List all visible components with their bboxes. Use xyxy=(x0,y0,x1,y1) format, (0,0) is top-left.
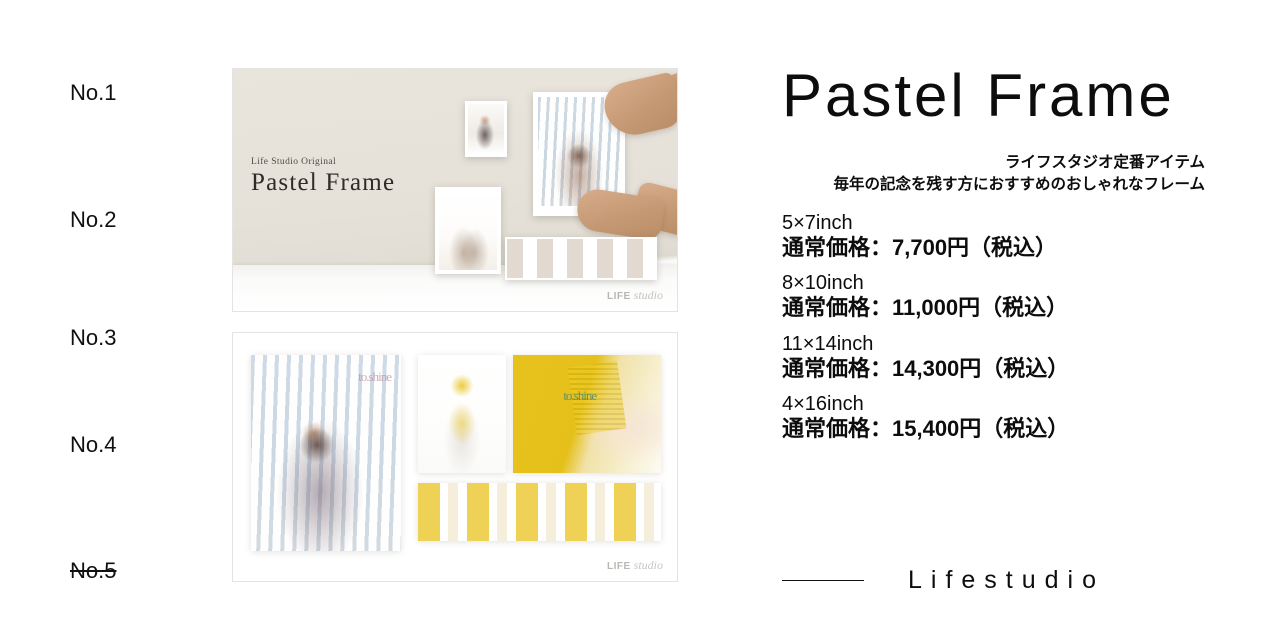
card-kicker: Life Studio Original xyxy=(251,157,395,167)
brand-divider xyxy=(782,580,864,582)
index-item-no2[interactable]: No.2 xyxy=(70,207,116,233)
framed-album-standing xyxy=(435,187,501,274)
card-product-name: Pastel Frame xyxy=(251,170,395,196)
photo-girl-yellow-hat xyxy=(418,355,506,473)
photo-kimono-texture xyxy=(251,355,401,551)
photo-caption-portrait: to.shine xyxy=(358,371,391,382)
card-stack: Life Studio Original Pastel Frame LIFE s… xyxy=(232,68,678,582)
brand-name: Lifestudio xyxy=(908,566,1105,595)
index-item-no4[interactable]: No.4 xyxy=(70,432,116,458)
watermark-life-text: LIFE xyxy=(607,291,631,302)
framed-panorama-strip xyxy=(505,237,657,280)
photo-caption-yellow: to.shine xyxy=(563,390,596,401)
photo-collage-texture xyxy=(418,483,661,541)
framed-print-small xyxy=(465,101,507,157)
photo-two-children xyxy=(439,191,497,270)
price-size-label: 11×14inch xyxy=(782,333,1222,356)
price-row: 4×16inch 通常価格：15,400円（税込） xyxy=(782,393,1222,441)
index-item-no1[interactable]: No.1 xyxy=(70,80,116,106)
price-amount-label: 通常価格：7,700円（税込） xyxy=(782,235,1222,260)
subtitle-line-1: ライフスタジオ定番アイテム xyxy=(1005,150,1205,172)
watermark-studio-text: studio xyxy=(634,558,663,573)
subtitle-line-2: 毎年の記念を残す方におすすめのおしゃれなフレーム xyxy=(833,172,1205,194)
info-panel: Pastel Frame ライフスタジオ定番アイテム 毎年の記念を残す方におすす… xyxy=(760,0,1230,640)
price-size-label: 4×16inch xyxy=(782,393,1222,416)
watermark-life-studio-bottom: LIFE studio xyxy=(607,558,663,573)
price-amount-label: 通常価格：15,400円（税込） xyxy=(782,416,1222,441)
index-item-no3[interactable]: No.3 xyxy=(70,325,116,351)
price-row: 11×14inch 通常価格：14,300円（税込） xyxy=(782,333,1222,381)
watermark-life-text: LIFE xyxy=(607,561,631,572)
index-item-no5[interactable]: No.5 xyxy=(70,558,116,584)
watermark-studio-text: studio xyxy=(634,288,663,303)
card-title-block: Life Studio Original Pastel Frame xyxy=(251,157,395,196)
photo-collage-strip xyxy=(418,483,661,541)
photo-yellow-texture xyxy=(513,355,661,473)
poster-page: No.1 No.2 No.3 No.4 No.5 xyxy=(0,0,1280,640)
price-row: 8×10inch 通常価格：11,000円（税込） xyxy=(782,272,1222,320)
price-amount-label: 通常価格：14,300円（税込） xyxy=(782,356,1222,381)
price-row: 5×7inch 通常価格：7,700円（税込） xyxy=(782,212,1222,260)
index-column: No.1 No.2 No.3 No.4 No.5 xyxy=(70,0,220,640)
photo-kimono-portrait: to.shine xyxy=(251,355,401,551)
price-size-label: 8×10inch xyxy=(782,272,1222,295)
price-amount-label: 通常価格：11,000円（税込） xyxy=(782,295,1222,320)
product-card-bottom[interactable]: to.shine to.shine LIFE studio xyxy=(232,332,678,582)
watermark-life-studio: LIFE studio xyxy=(607,288,663,303)
page-title: Pastel Frame xyxy=(782,66,1175,126)
photo-yellow-closeup: to.shine xyxy=(513,355,661,473)
brand-footer: Lifestudio xyxy=(782,566,1202,595)
photo-panorama-collage xyxy=(507,239,655,278)
price-list: 5×7inch 通常価格：7,700円（税込） 8×10inch 通常価格：11… xyxy=(782,212,1222,453)
photo-girl-standing xyxy=(468,104,504,154)
product-card-top[interactable]: Life Studio Original Pastel Frame LIFE s… xyxy=(232,68,678,312)
photo-girl-yellow-texture xyxy=(418,355,506,473)
price-size-label: 5×7inch xyxy=(782,212,1222,235)
